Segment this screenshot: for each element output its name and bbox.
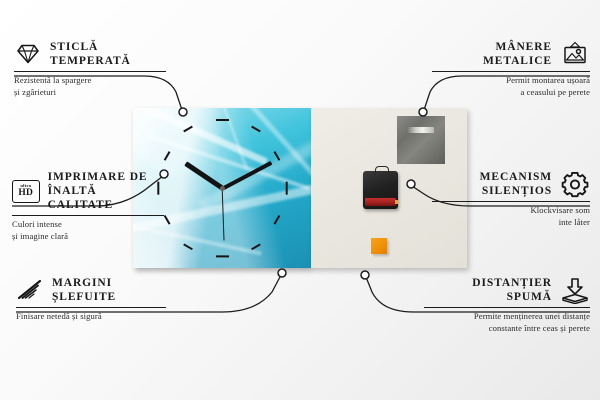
clock-tick — [251, 243, 261, 250]
gear-icon — [560, 171, 590, 198]
callout-head: STICLĂ TEMPERATĂ — [14, 40, 166, 68]
callout-desc-line1: Permite menținerea unei distanțe — [424, 311, 590, 323]
ultra-hd-icon: ultra HD — [12, 180, 40, 203]
callout-head: ultra HD IMPRIMARE DE ÎNALTĂ CALITATE — [12, 170, 164, 212]
callout-description: Permit montarea ușoară a ceasului pe per… — [432, 75, 590, 98]
callout-title-line2: ÎNALTĂ CALITATE — [48, 184, 164, 212]
callout-title-line1: MECANISM — [480, 170, 552, 184]
clock-tick — [274, 215, 281, 225]
callout-head: MÂNERE METALICE — [432, 40, 590, 68]
metal-hanger-part — [397, 116, 445, 164]
callout-title-line2: METALICE — [483, 54, 552, 68]
battery-part — [365, 198, 396, 206]
ultra-hd-icon-large-text: HD — [18, 189, 33, 199]
callout-tempered-glass: STICLĂ TEMPERATĂ Rezistentă la spargere … — [14, 40, 166, 98]
clock-mechanism-part — [363, 171, 398, 209]
callout-title: IMPRIMARE DE ÎNALTĂ CALITATE — [48, 170, 164, 212]
callout-polished-edges: MARGINI ȘLEFUITE Finisare netedă și sigu… — [16, 276, 166, 323]
callout-head: MARGINI ȘLEFUITE — [16, 276, 166, 304]
callout-title-line2: TEMPERATĂ — [50, 54, 131, 68]
clock-tick — [216, 255, 229, 257]
callout-divider — [432, 71, 590, 72]
diamond-icon — [14, 42, 42, 66]
callout-divider — [424, 307, 590, 308]
callout-desc-line1: Culori intense — [12, 219, 164, 231]
mechanism-loop — [375, 166, 389, 175]
callout-silent-mechanism: MECANISM SILENȚIOS Klockvisare som inte … — [432, 170, 590, 228]
callout-desc-line2: a ceasului pe perete — [432, 87, 590, 99]
down-arrow-pad-icon — [560, 277, 590, 304]
callout-description: Finisare netedă și sigură — [16, 311, 166, 323]
callout-desc-line1: Rezistentă la spargere — [14, 75, 166, 87]
callout-desc-line2: și imagine clară — [12, 231, 164, 243]
callout-divider — [16, 307, 166, 308]
foam-spacer-part — [371, 238, 387, 254]
callout-description: Klockvisare som inte låter — [432, 205, 590, 228]
callout-title: MARGINI ȘLEFUITE — [52, 276, 116, 304]
callout-divider — [12, 215, 164, 216]
callout-metal-handles: MÂNERE METALICE Permit montarea ușoară a… — [432, 40, 590, 98]
callout-desc-line2: inte låter — [432, 217, 590, 229]
clock-tick — [251, 126, 261, 133]
clock-center-hub — [220, 186, 225, 191]
callout-description: Rezistentă la spargere și zgârieturi — [14, 75, 166, 98]
callout-description: Permite menținerea unei distanțe constan… — [424, 311, 590, 334]
clock-tick — [183, 243, 193, 250]
callout-desc-line2: și zgârieturi — [14, 87, 166, 99]
product-image-group — [133, 108, 467, 273]
callout-title: MECANISM SILENȚIOS — [480, 170, 552, 198]
callout-head: DISTANȚIER SPUMĂ — [424, 276, 590, 304]
diagonal-lines-icon — [16, 279, 44, 302]
callout-desc-line1: Permit montarea ușoară — [432, 75, 590, 87]
callout-title: STICLĂ TEMPERATĂ — [50, 40, 131, 68]
callout-title: DISTANȚIER SPUMĂ — [472, 276, 552, 304]
clock-tick — [216, 119, 229, 121]
callout-divider — [14, 71, 166, 72]
callout-title-line1: STICLĂ — [50, 40, 131, 54]
callout-high-quality-print: ultra HD IMPRIMARE DE ÎNALTĂ CALITATE Cu… — [12, 170, 164, 242]
callout-title-line2: ȘLEFUITE — [52, 290, 116, 304]
picture-frame-hanger-icon — [560, 41, 590, 67]
callout-foam-spacer: DISTANȚIER SPUMĂ Permite menținerea unei… — [424, 276, 590, 334]
callout-title-line1: IMPRIMARE DE — [48, 170, 164, 184]
callout-title: MÂNERE METALICE — [483, 40, 552, 68]
callout-title-line1: MÂNERE — [483, 40, 552, 54]
callout-desc-line1: Klockvisare som — [432, 205, 590, 217]
clock-tick — [285, 182, 287, 195]
callout-head: MECANISM SILENȚIOS — [432, 170, 590, 198]
callout-title-line1: DISTANȚIER — [472, 276, 552, 290]
callout-desc-line1: Finisare netedă și sigură — [16, 311, 166, 323]
clock-hour-hand — [184, 162, 223, 190]
callout-title-line2: SPUMĂ — [472, 290, 552, 304]
callout-title-line1: MARGINI — [52, 276, 116, 290]
callout-title-line2: SILENȚIOS — [480, 184, 552, 198]
callout-divider — [432, 201, 590, 202]
callout-desc-line2: constante între ceas și perete — [424, 323, 590, 335]
callout-description: Culori intense și imagine clară — [12, 219, 164, 242]
infographic-canvas: STICLĂ TEMPERATĂ Rezistentă la spargere … — [0, 0, 600, 400]
